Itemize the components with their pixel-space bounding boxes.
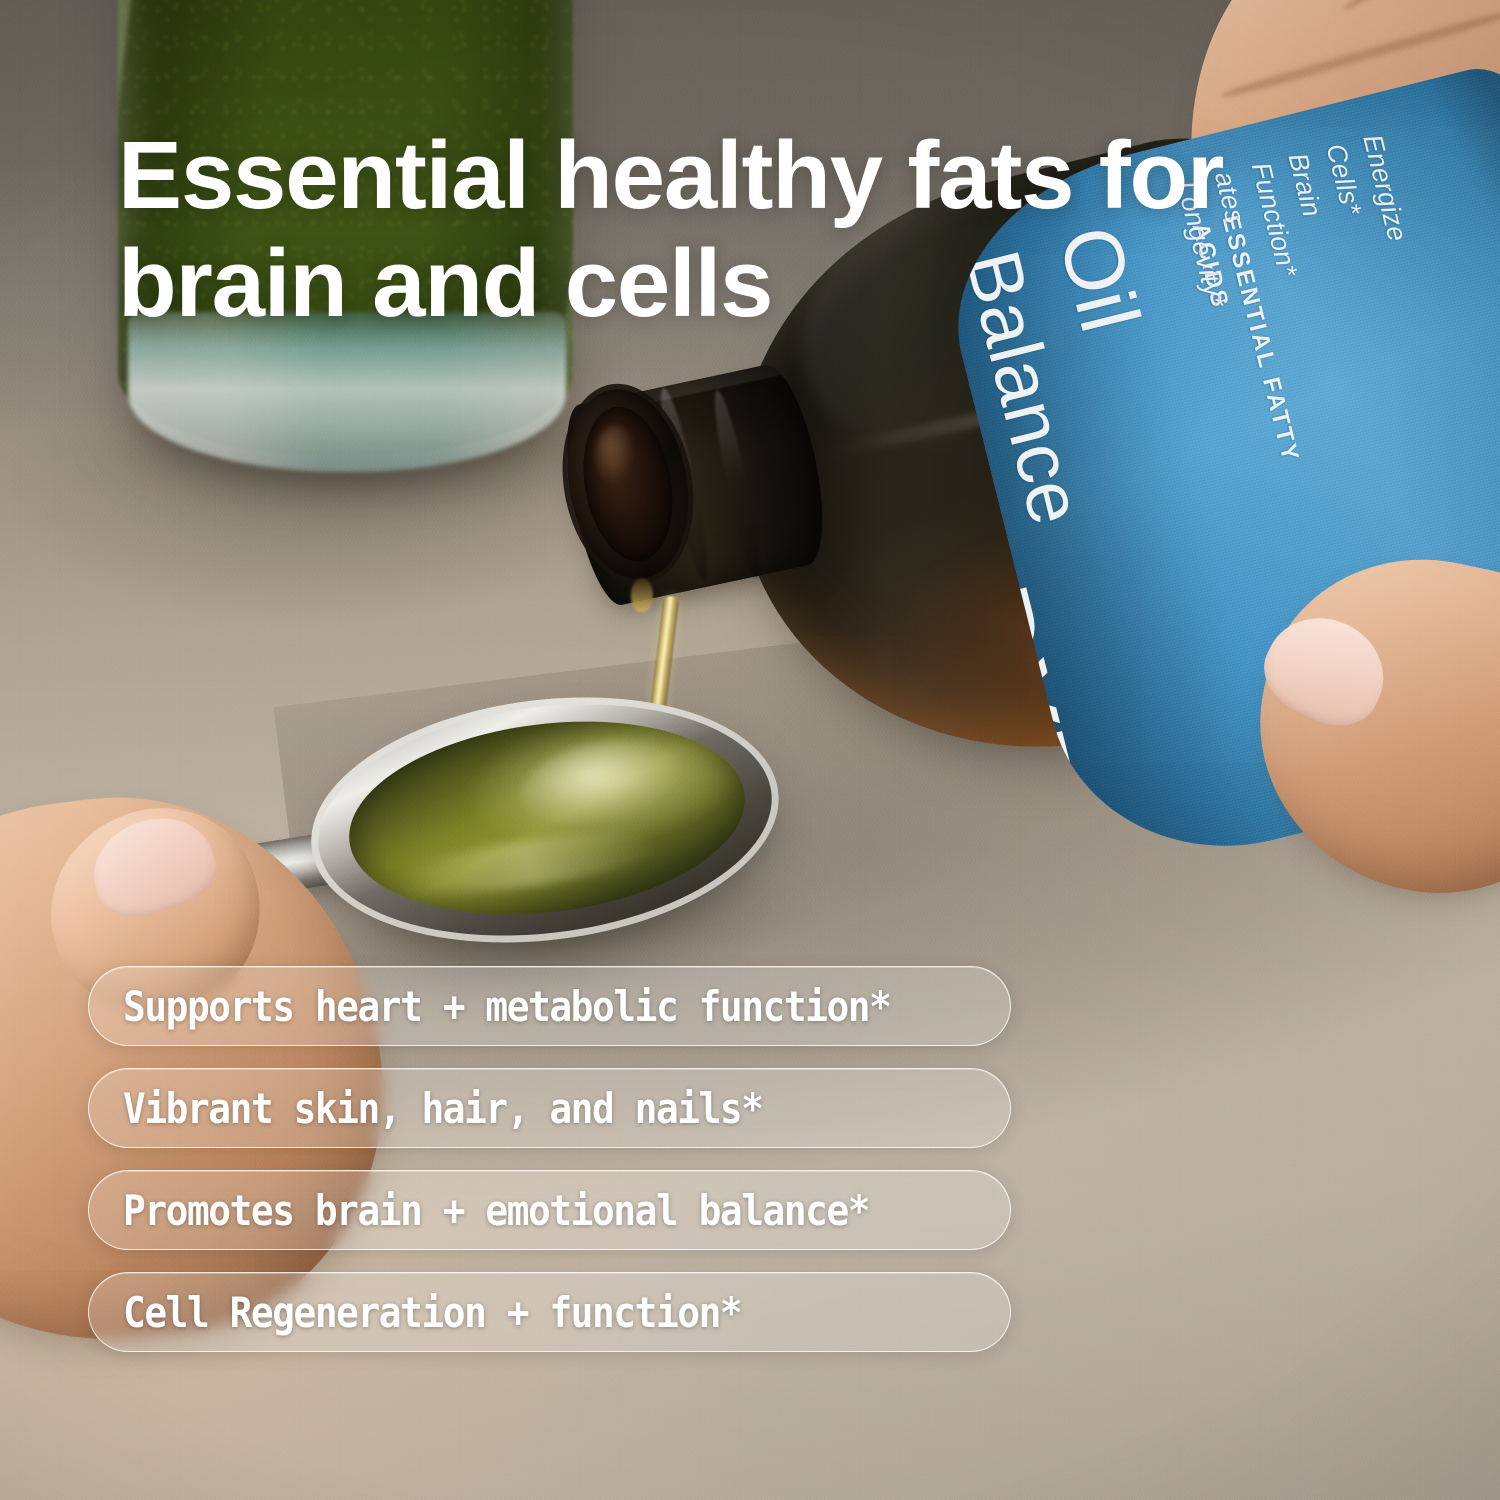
product-marketing-image: Balance Oil ESSENTIAL FATTY ACIDS Energi… — [0, 0, 1500, 1500]
image-vignette — [0, 0, 1500, 1500]
